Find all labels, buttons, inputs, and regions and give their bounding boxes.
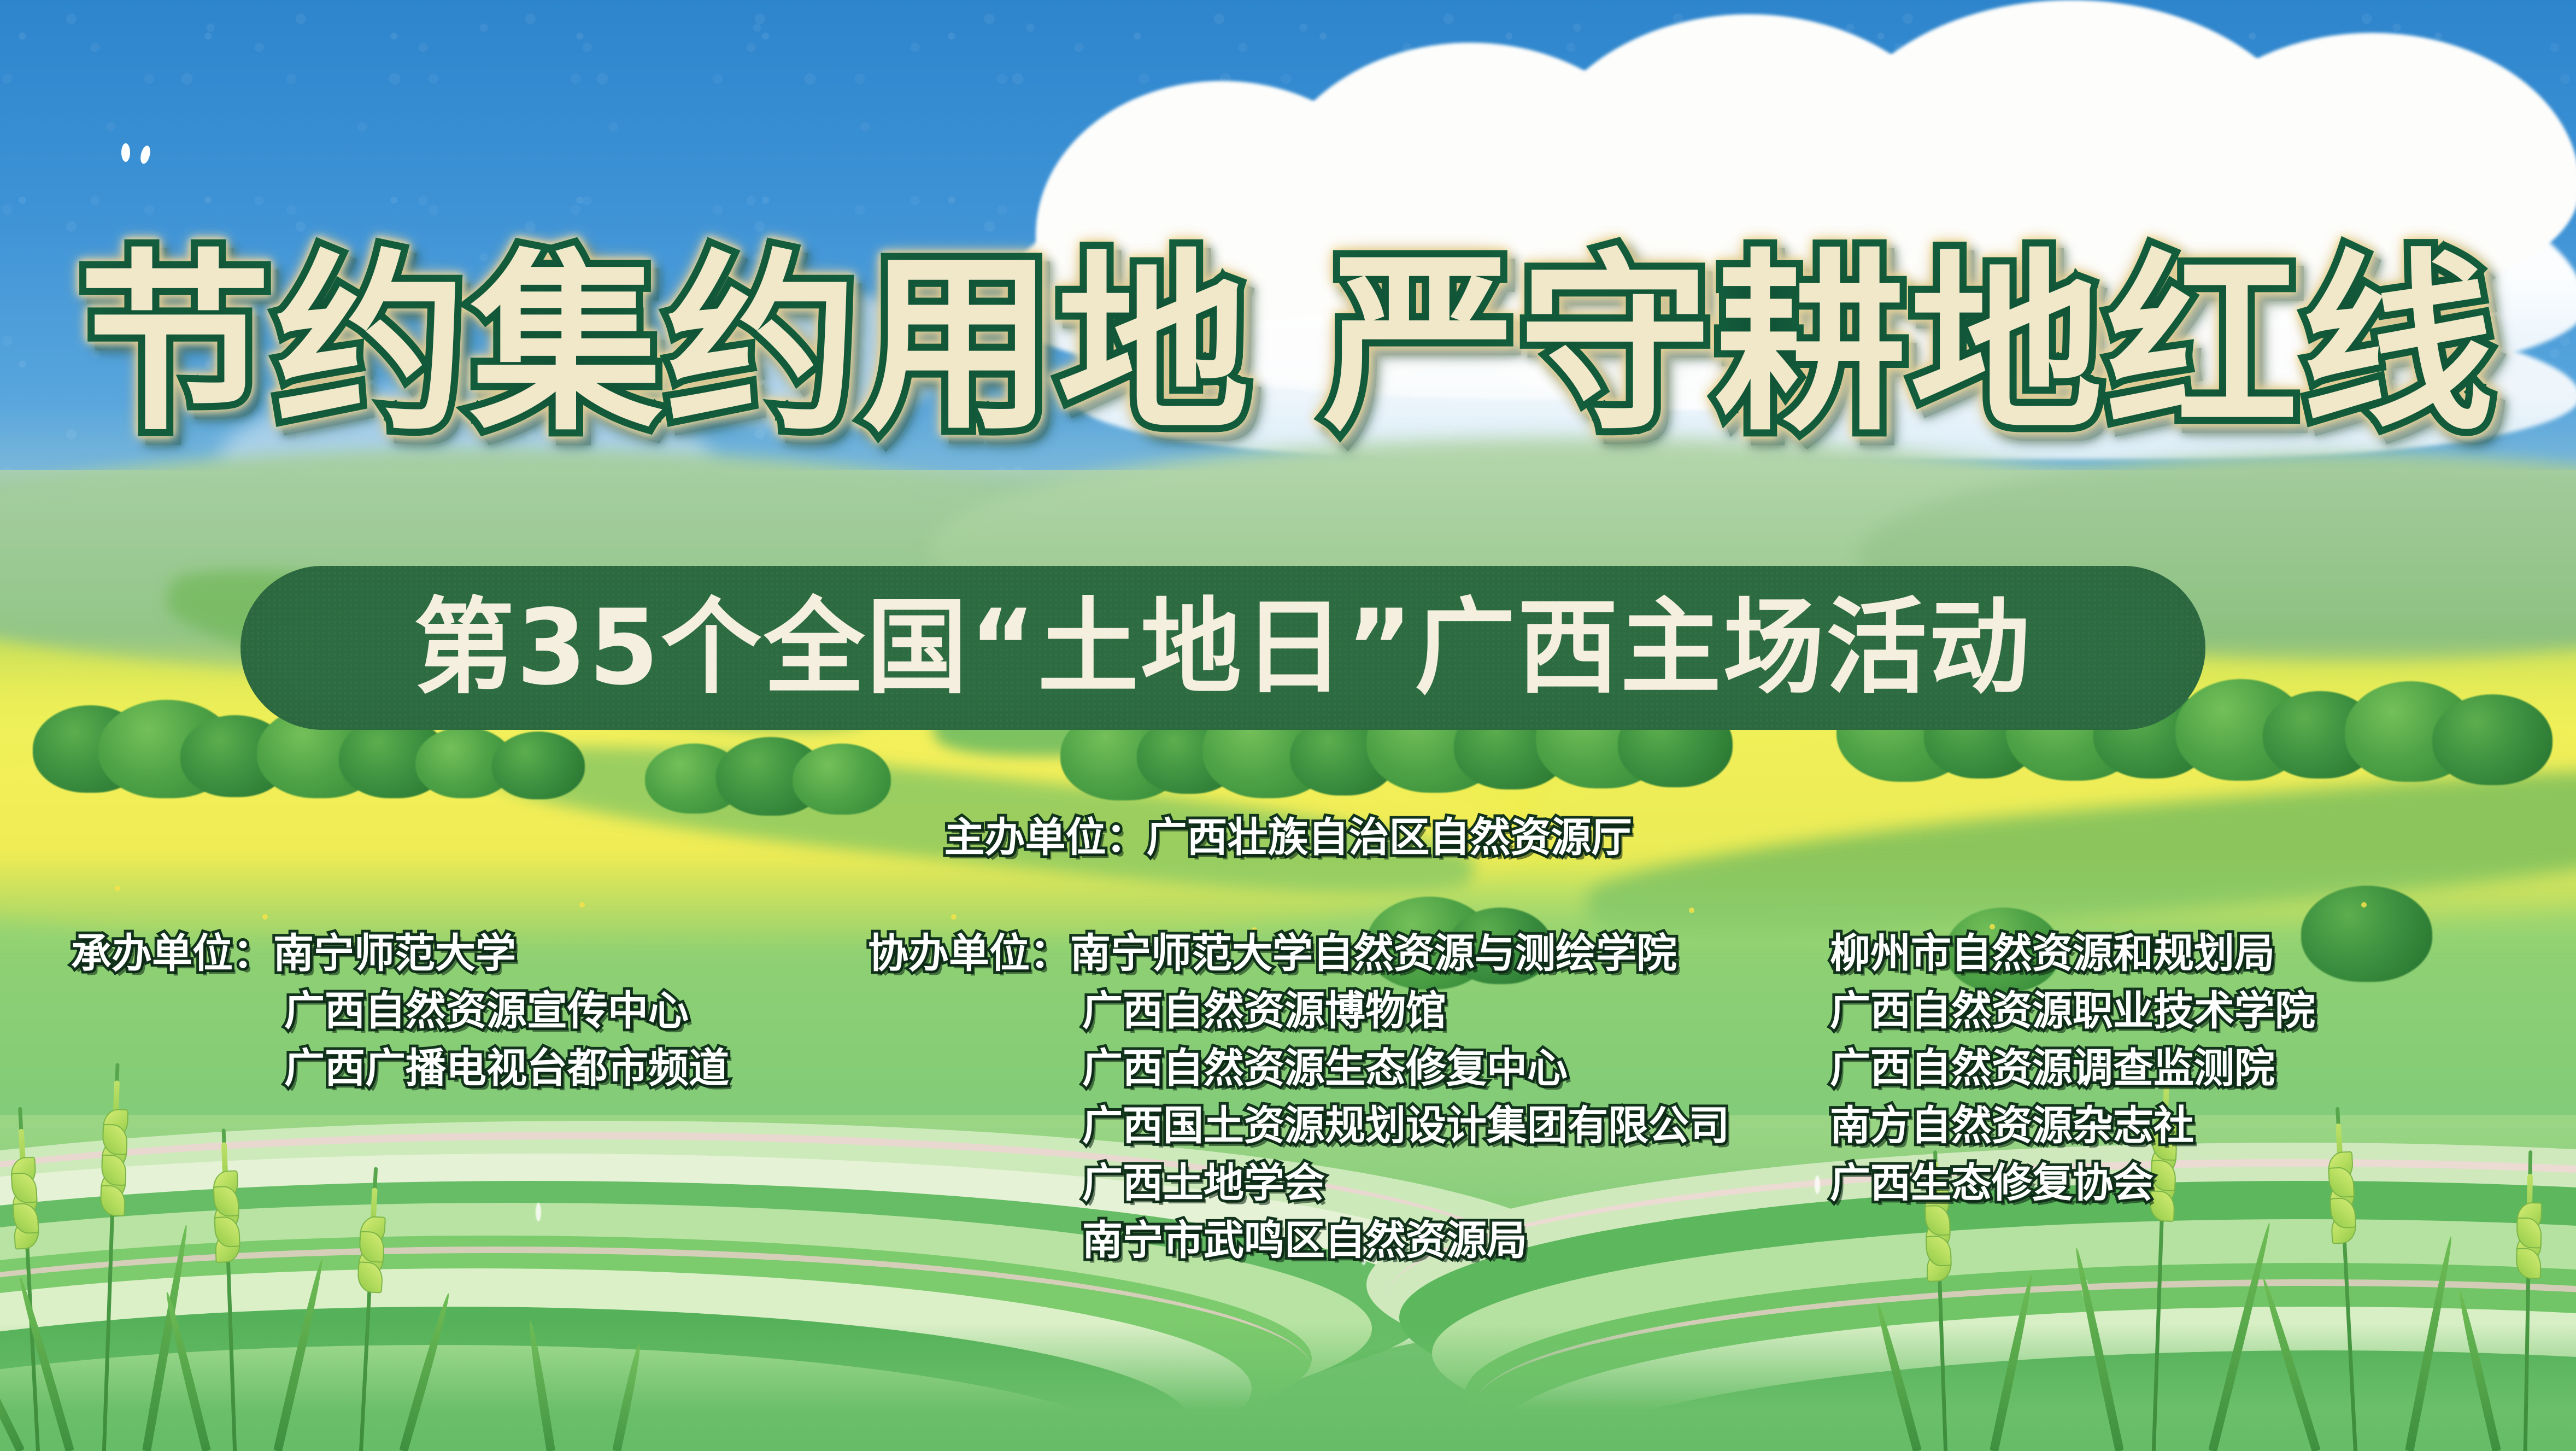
host-line: 主办单位：广西壮族自治区自然资源厅 bbox=[0, 809, 2576, 867]
co-organizer-line: 广西自然资源生态修复中心 bbox=[868, 1040, 1729, 1097]
org-label: 承办单位： bbox=[71, 930, 273, 977]
co-organizer-line: 广西自然资源职业技术学院 bbox=[1830, 982, 2315, 1040]
org-label: 协办单位： bbox=[868, 930, 1070, 977]
co-organizer-line: 广西自然资源调查监测院 bbox=[1830, 1040, 2315, 1097]
organizer-line: 广西广播电视台都市频道 bbox=[71, 1040, 729, 1097]
organizer-line: 广西自然资源宣传中心 bbox=[71, 982, 729, 1040]
co-organizer-line: 柳州市自然资源和规划局 bbox=[1830, 925, 2315, 982]
organizer-block: 主办单位：广西壮族自治区自然资源厅 承办单位：南宁师范大学 广西自然资源宣传中心… bbox=[0, 0, 2576, 1451]
host-text: 主办单位：广西壮族自治区自然资源厅 bbox=[944, 814, 1632, 861]
organizer-column-middle: 协办单位：南宁师范大学自然资源与测绘学院 广西自然资源博物馆 广西自然资源生态修… bbox=[868, 925, 1729, 1269]
organizer-line: 承办单位：南宁师范大学 bbox=[71, 925, 729, 982]
poster-canvas: 节约集约用地 严守耕地红线 第35个全国“土地日”广西主场活动 主办单位：广西壮… bbox=[0, 0, 2576, 1451]
co-organizer-line: 广西土地学会 bbox=[868, 1155, 1729, 1212]
organizer-column-left: 承办单位：南宁师范大学 广西自然资源宣传中心 广西广播电视台都市频道 bbox=[71, 925, 729, 1097]
co-organizer-line: 广西生态修复协会 bbox=[1830, 1155, 2315, 1212]
co-organizer-line: 南方自然资源杂志社 bbox=[1830, 1097, 2315, 1155]
co-organizer-line: 协办单位：南宁师范大学自然资源与测绘学院 bbox=[868, 925, 1729, 982]
co-organizer-line: 广西国土资源规划设计集团有限公司 bbox=[868, 1097, 1729, 1155]
co-organizer-line: 南宁市武鸣区自然资源局 bbox=[868, 1212, 1729, 1269]
org-value: 南宁师范大学自然资源与测绘学院 bbox=[1070, 930, 1677, 977]
org-value: 南宁师范大学 bbox=[273, 930, 516, 977]
organizer-column-right: 柳州市自然资源和规划局 广西自然资源职业技术学院 广西自然资源调查监测院 南方自… bbox=[1830, 925, 2315, 1212]
co-organizer-line: 广西自然资源博物馆 bbox=[868, 982, 1729, 1040]
